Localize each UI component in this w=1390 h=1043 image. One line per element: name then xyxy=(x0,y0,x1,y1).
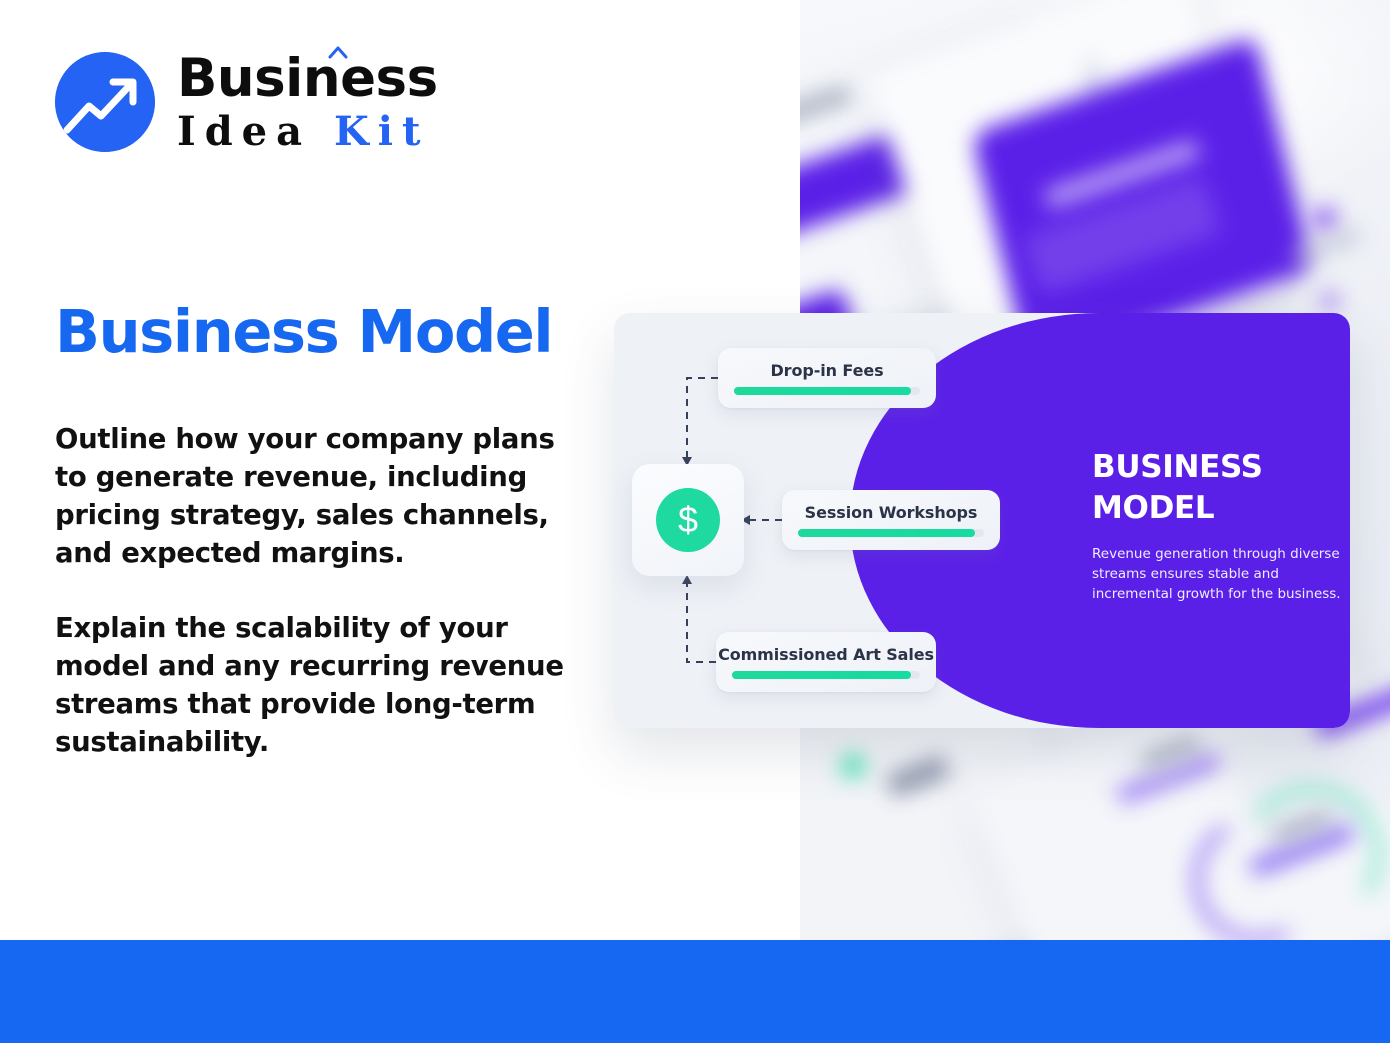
brand-idea-text: Idea xyxy=(177,108,334,155)
revenue-node-progress-fill xyxy=(732,671,911,679)
blob-description: Revenue generation through diverse strea… xyxy=(1092,544,1342,604)
page-title: Business Model xyxy=(55,297,552,366)
revenue-node-session-workshops[interactable]: Session Workshops xyxy=(782,490,1000,550)
brand-name-text: Business xyxy=(177,48,438,109)
revenue-node-progress-fill xyxy=(734,387,911,395)
blob-text-group: BUSINESS MODEL Revenue generation throug… xyxy=(1092,447,1342,604)
blurred-dot-1 xyxy=(1314,208,1336,230)
revenue-node-label: Drop-in Fees xyxy=(718,361,936,380)
blurred-green-dot xyxy=(842,755,864,777)
revenue-center-tile: $ xyxy=(632,464,744,576)
revenue-node-label: Commissioned Art Sales xyxy=(716,645,936,664)
revenue-node-drop-in-fees[interactable]: Drop-in Fees xyxy=(718,348,936,408)
revenue-node-commissioned-art-sales[interactable]: Commissioned Art Sales xyxy=(716,632,936,692)
brand-kit-text: Kit xyxy=(334,108,429,155)
revenue-node-label: Session Workshops xyxy=(782,503,1000,522)
revenue-node-progress-track xyxy=(732,671,920,679)
blurred-dot-2 xyxy=(1322,293,1338,309)
revenue-node-progress-track xyxy=(734,387,920,395)
body-paragraph-2: Explain the scalability of your model an… xyxy=(55,609,585,761)
blob-title: BUSINESS MODEL xyxy=(1092,447,1342,529)
brand-name-line1: Business xyxy=(177,52,438,105)
circumflex-accent-icon xyxy=(328,45,348,59)
brand-logo: Business Idea Kit xyxy=(55,52,438,152)
brand-wordmark: Business Idea Kit xyxy=(177,52,438,152)
footer-accent-bar xyxy=(0,940,1390,1043)
revenue-node-progress-track xyxy=(798,529,984,537)
brand-name-line2: Idea Kit xyxy=(177,112,438,152)
dollar-sign-icon: $ xyxy=(656,488,720,552)
body-paragraph-1: Outline how your company plans to genera… xyxy=(55,420,585,572)
growth-chart-circle-icon xyxy=(55,52,155,152)
svg-text:$: $ xyxy=(678,499,698,540)
revenue-node-progress-fill xyxy=(798,529,975,537)
